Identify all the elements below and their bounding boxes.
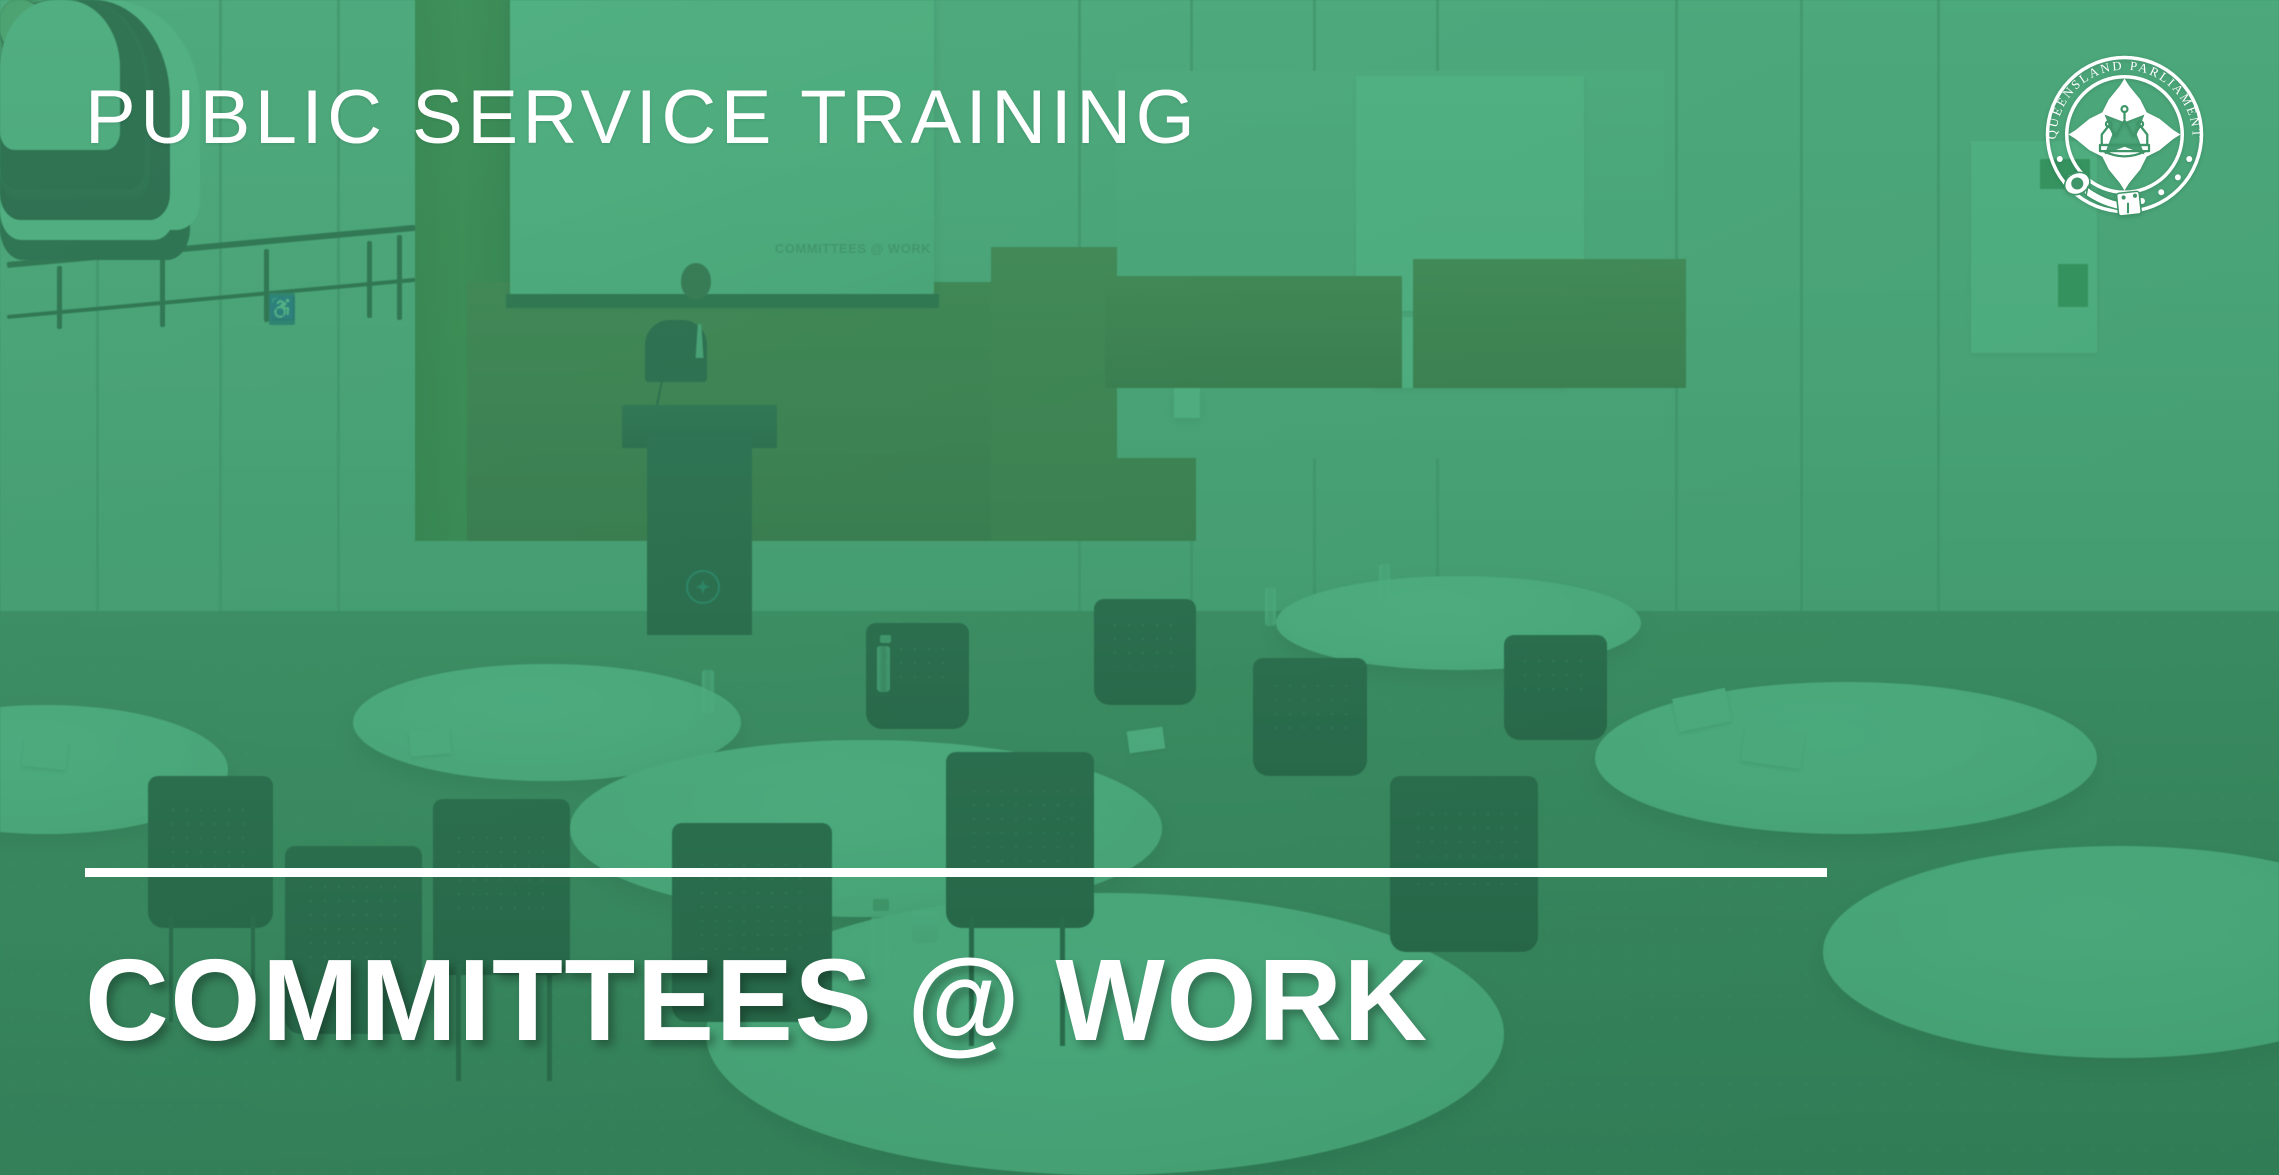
promotional-banner: COMMITTEES @ WORK bbox=[0, 0, 2279, 1175]
eyebrow-title: PUBLIC SERVICE TRAINING bbox=[85, 80, 1199, 156]
headline-title: COMMITTEES @ WORK bbox=[85, 942, 1429, 1058]
divider-rule bbox=[85, 868, 1827, 877]
banner-content: PUBLIC SERVICE TRAINING COMMITTEES @ WOR… bbox=[0, 0, 2279, 1175]
queensland-parliament-seal-logo: QUEENSLAND PARLIAMENT bbox=[2037, 47, 2212, 222]
